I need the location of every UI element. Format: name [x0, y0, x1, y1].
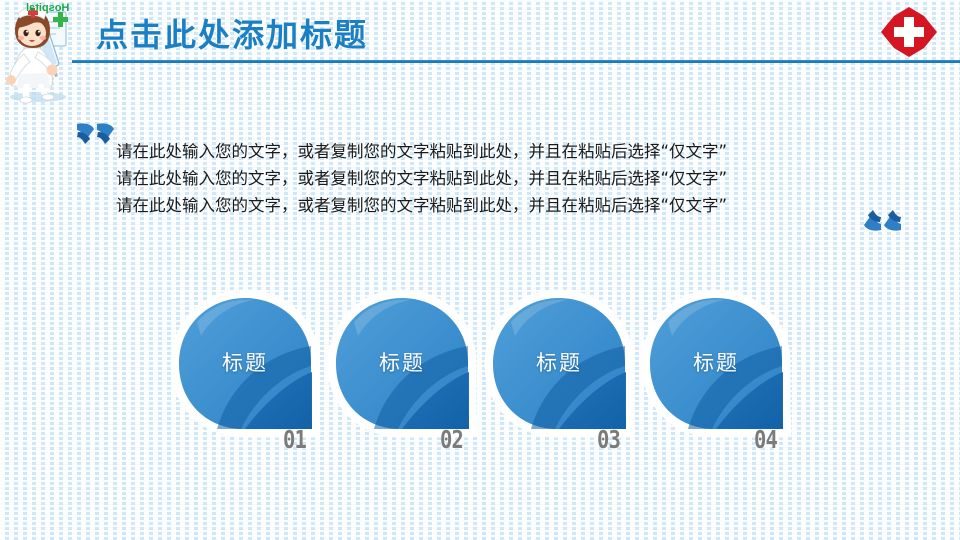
circle-row: 标题 01: [0, 0, 960, 540]
circle-number: 04: [754, 425, 777, 454]
circle-sticker-shape: [165, 282, 325, 442]
circle-number: 03: [597, 425, 620, 454]
circle-sticker-shape: [479, 282, 639, 442]
slide-canvas: Hospital 点击此处添加标题 请在此处输入您的文字: [0, 0, 960, 540]
circle-sticker-shape: [636, 282, 796, 442]
circle-item-04[interactable]: 标题 04: [636, 282, 796, 442]
circle-number: 02: [440, 425, 463, 454]
circle-item-03[interactable]: 标题 03: [479, 282, 639, 442]
circle-number: 01: [283, 425, 306, 454]
circle-sticker-shape: [322, 282, 482, 442]
circle-item-02[interactable]: 标题 02: [322, 282, 482, 442]
circle-item-01[interactable]: 标题 01: [165, 282, 325, 442]
